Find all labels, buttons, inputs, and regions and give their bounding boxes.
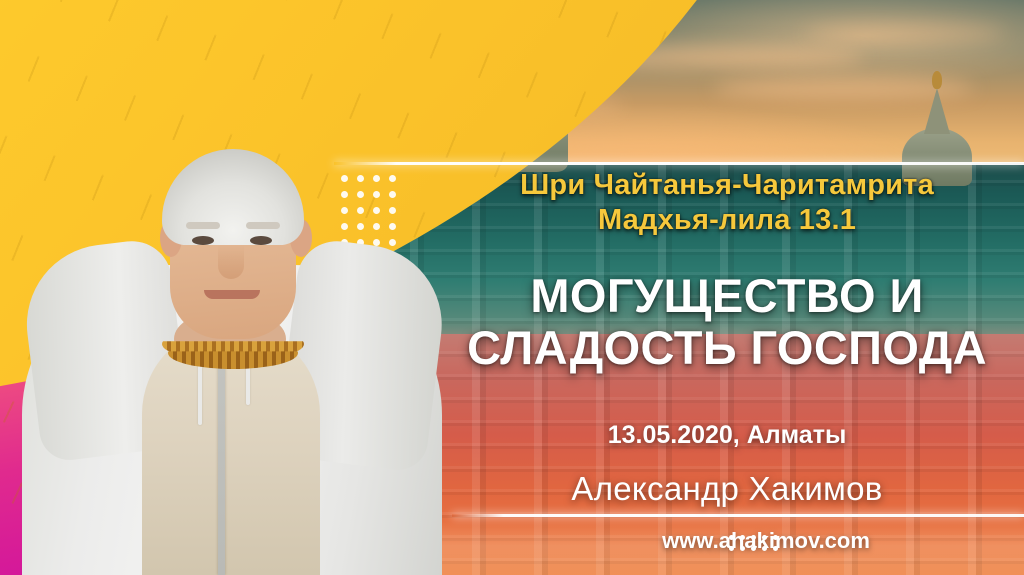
dot-grid-decoration-footer <box>726 532 781 554</box>
hair <box>162 149 304 245</box>
speaker-portrait <box>22 15 442 575</box>
eyebrow-right <box>246 222 280 229</box>
lecture-announcement-poster: Шри Чайтанья-Чаритамрита Мадхья-лила 13.… <box>0 0 1024 575</box>
scripture-reference: Шри Чайтанья-Чаритамрита Мадхья-лила 13.… <box>430 168 1024 239</box>
page-title-line2: СЛАДОСТЬ ГОСПОДА <box>430 322 1024 374</box>
eye-right <box>250 236 272 245</box>
eye-left <box>192 236 214 245</box>
mouth <box>204 290 260 299</box>
scripture-reference-line2: Мадхья-лила 13.1 <box>430 203 1024 238</box>
scripture-reference-line1: Шри Чайтанья-Чаритамрита <box>430 168 1024 203</box>
page-title-line1: МОГУЩЕСТВО И <box>430 270 1024 322</box>
speaker-name: Александр Хакимов <box>430 470 1024 508</box>
page-title: МОГУЩЕСТВО И СЛАДОСТЬ ГОСПОДА <box>430 270 1024 374</box>
nose <box>218 245 244 279</box>
eyebrow-left <box>186 222 220 229</box>
poster-text-column: Шри Чайтанья-Чаритамрита Мадхья-лила 13.… <box>430 0 1024 575</box>
date-and-city: 13.05.2020, Алматы <box>430 421 1024 450</box>
